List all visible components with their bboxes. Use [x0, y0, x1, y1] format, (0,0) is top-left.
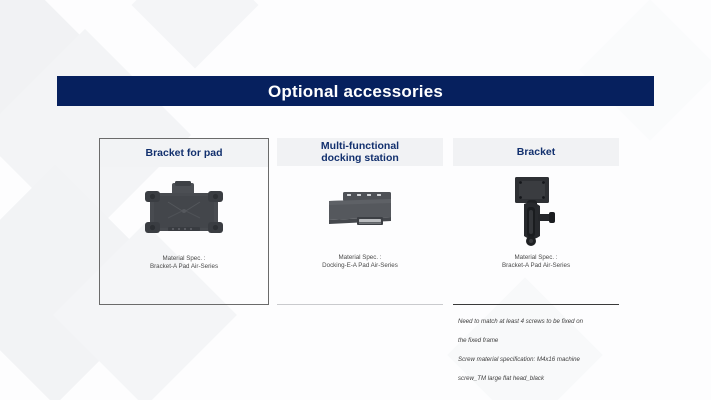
accessory-card-underline — [453, 304, 619, 305]
background-diamond-decoration — [0, 0, 99, 139]
pad-bracket-cradle-image — [100, 167, 268, 255]
docking-station-icon — [321, 187, 399, 233]
accessory-card-header: Multi-functional docking station — [277, 138, 443, 166]
accessory-card-docking-station: Multi-functional docking station Materia… — [277, 138, 443, 305]
background-diamond-decoration — [579, 0, 711, 141]
note-line-2: the fixed frame — [458, 336, 623, 346]
vesa-swivel-bracket-image — [453, 166, 619, 254]
accessory-title-bracket: Bracket — [517, 146, 556, 159]
pad-bracket-cradle-icon — [138, 180, 230, 242]
page-title: Optional accessories — [268, 83, 443, 100]
accessory-title-docking-station: Multi-functional docking station — [321, 140, 399, 165]
accessory-card-header: Bracket for pad — [100, 139, 268, 167]
slide-canvas: Optional accessories Bracket for pad — [0, 0, 711, 400]
note-line-4: screw_TM large flat head_black — [458, 374, 623, 384]
note-line-1: Need to match at least 4 screws to be fi… — [458, 317, 623, 327]
screw-requirement-note: Need to match at least 4 screws to be fi… — [458, 307, 623, 393]
accessory-card-underline — [277, 304, 443, 305]
accessory-card-bracket: Bracket Material Spec. : Bracket-A Pad A… — [453, 138, 619, 305]
accessory-spec-docking-station: Material Spec. : Docking-E-A Pad Air-Ser… — [277, 254, 443, 270]
accessory-card-header: Bracket — [453, 138, 619, 166]
note-line-3: Screw material specification: M4x16 mach… — [458, 355, 623, 365]
accessory-card-bracket-for-pad: Bracket for pad — [99, 138, 269, 305]
vesa-swivel-bracket-icon — [507, 174, 565, 246]
accessory-spec-bracket-for-pad: Material Spec. : Bracket-A Pad Air-Serie… — [100, 255, 268, 271]
accessory-spec-bracket: Material Spec. : Bracket-A Pad Air-Serie… — [453, 254, 619, 270]
background-diamond-decoration — [131, 0, 258, 69]
docking-station-image — [277, 166, 443, 254]
slide-title-bar: Optional accessories — [57, 76, 654, 106]
accessory-title-bracket-for-pad: Bracket for pad — [145, 147, 222, 160]
